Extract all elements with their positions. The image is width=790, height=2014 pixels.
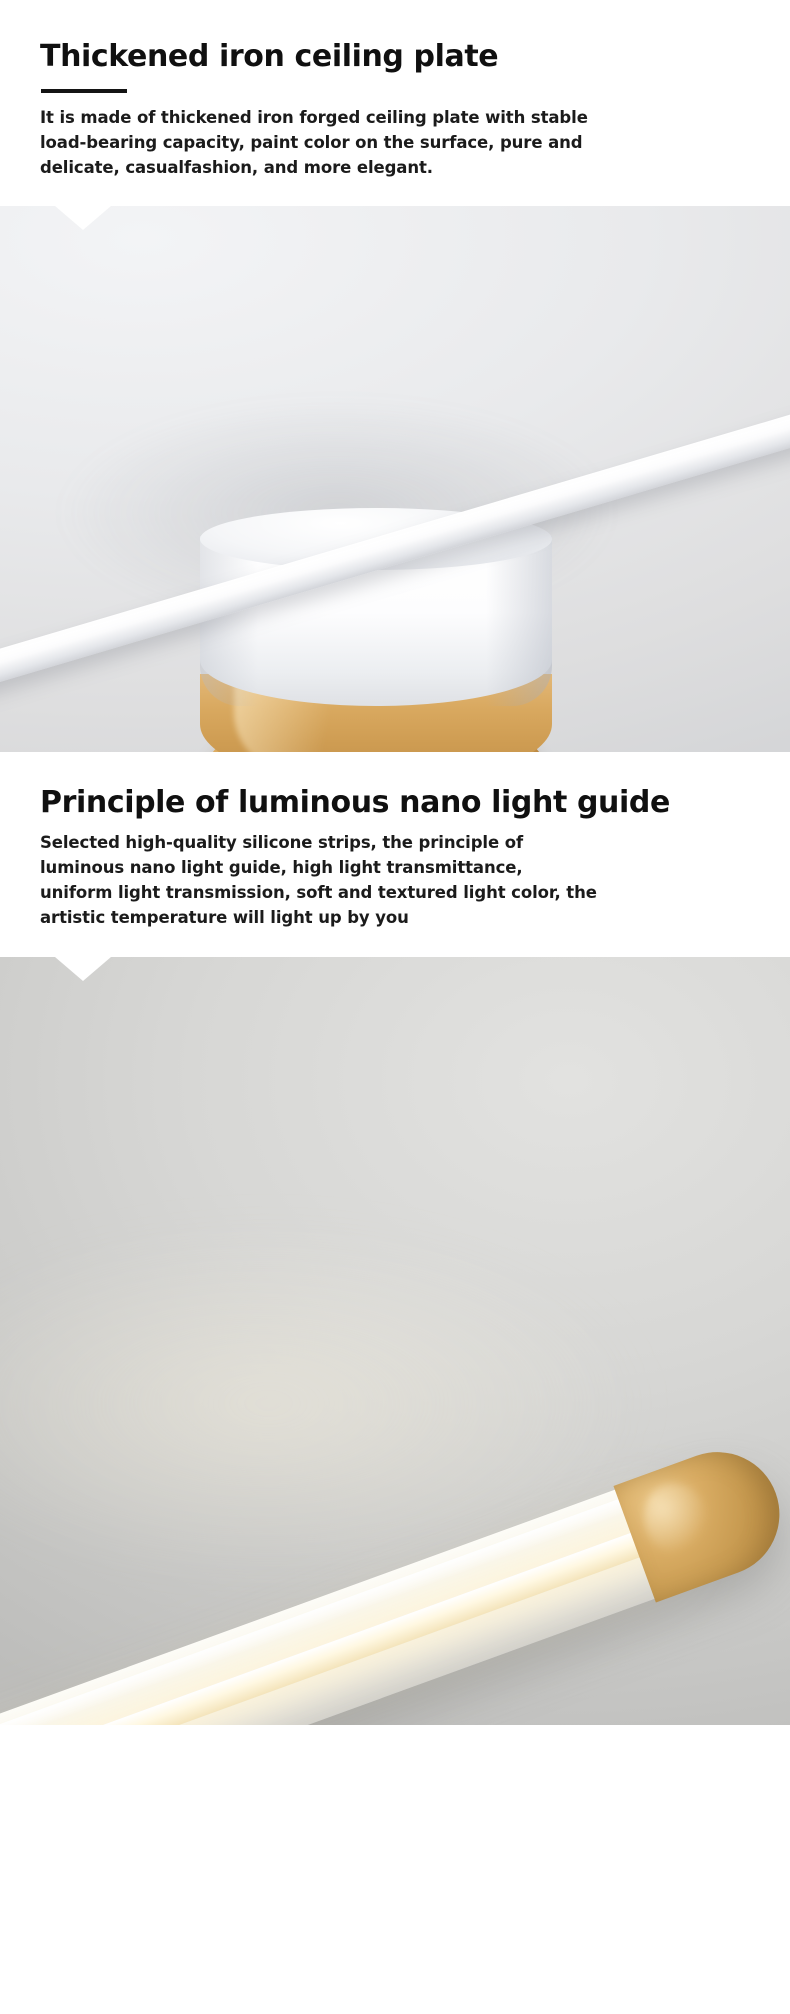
section-2-title: Principle of luminous nano light guide xyxy=(40,786,750,821)
gold-cap-sheen xyxy=(634,1473,719,1564)
section-2-notch-triangle xyxy=(55,957,111,981)
section-1-title-rule xyxy=(41,89,127,93)
body-shade-left xyxy=(200,536,258,706)
glowing-tube-photo xyxy=(0,957,790,1725)
section-1-notch-triangle xyxy=(55,206,111,230)
section-1-title: Thickened iron ceiling plate xyxy=(40,40,750,75)
section-1-text-block: Thickened iron ceiling plate It is made … xyxy=(0,0,790,206)
section-1-body: It is made of thickened iron forged ceil… xyxy=(40,105,600,180)
product-detail-page: Thickened iron ceiling plate It is made … xyxy=(0,0,790,2014)
section-2-body: Selected high-quality silicone strips, t… xyxy=(40,830,600,930)
ceiling-lamp-photo xyxy=(0,206,790,752)
section-2-text-block: Principle of luminous nano light guide S… xyxy=(0,752,790,957)
